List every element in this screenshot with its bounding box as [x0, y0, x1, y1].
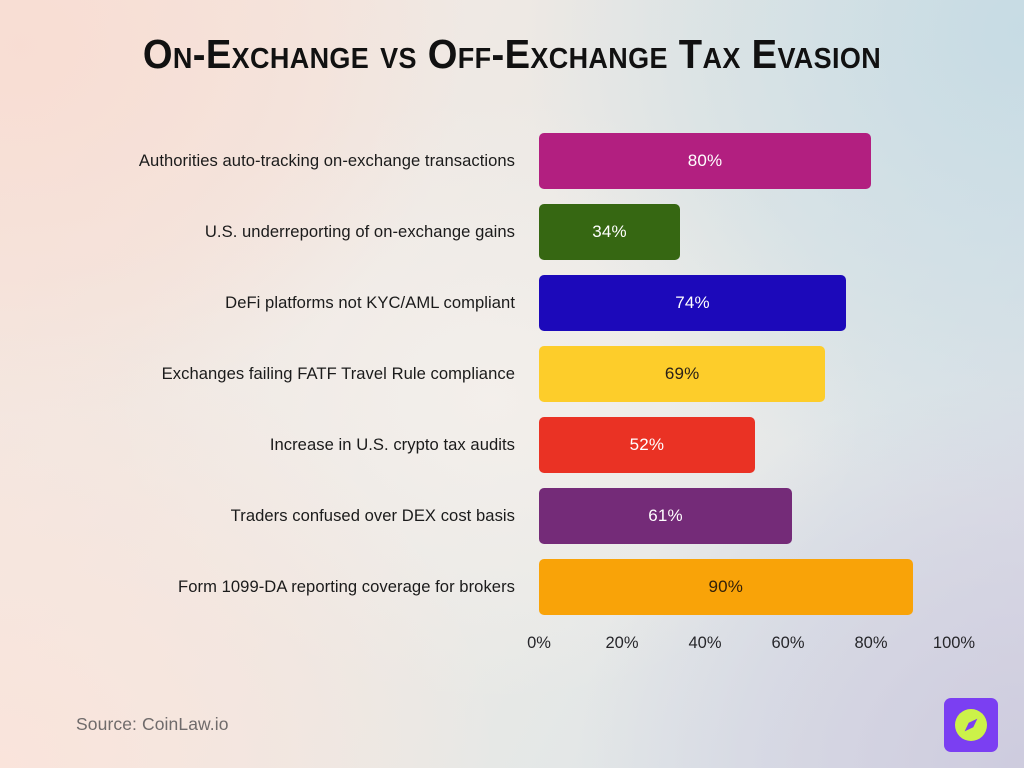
bar[interactable]: 74%: [539, 275, 846, 331]
bar-track: 90%: [539, 559, 999, 615]
bar-row: Form 1099-DA reporting coverage for brok…: [0, 559, 1024, 615]
bar-row: Exchanges failing FATF Travel Rule compl…: [0, 346, 1024, 402]
bar-row: U.S. underreporting of on-exchange gains…: [0, 204, 1024, 260]
bar-value-label: 34%: [592, 222, 627, 242]
bar[interactable]: 69%: [539, 346, 825, 402]
x-axis: 0%20%40%60%80%100%: [0, 632, 1024, 660]
x-axis-tick-label: 80%: [854, 632, 887, 654]
bar-chart-plot-area: Authorities auto-tracking on-exchange tr…: [0, 120, 1024, 632]
bar-track: 74%: [539, 275, 999, 331]
source-note: Source: CoinLaw.io: [76, 713, 229, 735]
bar-value-label: 61%: [648, 506, 683, 526]
bar-category-label: Authorities auto-tracking on-exchange tr…: [0, 151, 515, 171]
bar-category-label: Traders confused over DEX cost basis: [0, 506, 515, 526]
x-axis-tick-label: 40%: [688, 632, 721, 654]
infographic-canvas: On-Exchange vs Off-Exchange Tax Evasion …: [0, 0, 1024, 768]
bar-value-label: 52%: [630, 435, 665, 455]
x-axis-tick-label: 100%: [933, 632, 975, 654]
bar-track: 80%: [539, 133, 999, 189]
bar-value-label: 69%: [665, 364, 700, 384]
bar-track: 61%: [539, 488, 999, 544]
bar[interactable]: 90%: [539, 559, 913, 615]
bar-row: Increase in U.S. crypto tax audits52%: [0, 417, 1024, 473]
bar-value-label: 80%: [688, 151, 723, 171]
compass-icon: [951, 705, 991, 745]
page-title: On-Exchange vs Off-Exchange Tax Evasion: [36, 30, 988, 78]
bar-category-label: U.S. underreporting of on-exchange gains: [0, 222, 515, 242]
bar-value-label: 74%: [675, 293, 710, 313]
x-axis-tick-label: 0%: [527, 632, 551, 654]
bar-value-label: 90%: [708, 577, 743, 597]
bar[interactable]: 61%: [539, 488, 792, 544]
bar-category-label: Exchanges failing FATF Travel Rule compl…: [0, 364, 515, 384]
bar-row: Traders confused over DEX cost basis61%: [0, 488, 1024, 544]
bar-category-label: Form 1099-DA reporting coverage for brok…: [0, 577, 515, 597]
x-axis-tick-label: 60%: [771, 632, 804, 654]
bar-category-label: Increase in U.S. crypto tax audits: [0, 435, 515, 455]
bar-category-label: DeFi platforms not KYC/AML compliant: [0, 293, 515, 313]
bar[interactable]: 34%: [539, 204, 680, 260]
bar[interactable]: 80%: [539, 133, 871, 189]
bar-row: DeFi platforms not KYC/AML compliant74%: [0, 275, 1024, 331]
bar[interactable]: 52%: [539, 417, 755, 473]
bar-track: 34%: [539, 204, 999, 260]
x-axis-tick-label: 20%: [605, 632, 638, 654]
bar-track: 52%: [539, 417, 999, 473]
bar-track: 69%: [539, 346, 999, 402]
bar-row: Authorities auto-tracking on-exchange tr…: [0, 133, 1024, 189]
coinlaw-compass-logo[interactable]: [944, 698, 998, 752]
